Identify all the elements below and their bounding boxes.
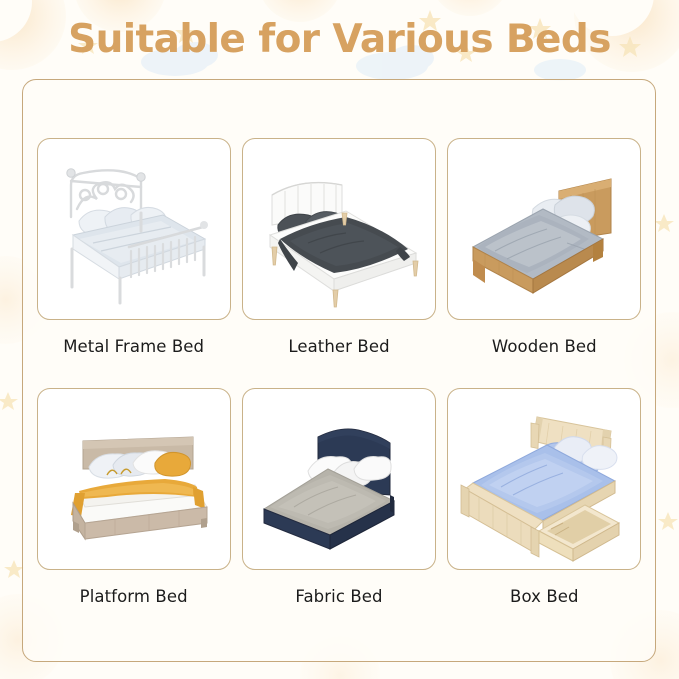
fabric-bed-icon: [250, 397, 428, 562]
platform-bed-icon: [45, 397, 223, 562]
bed-card-leather[interactable]: Leather Bed: [239, 138, 438, 388]
bed-label: Metal Frame Bed: [63, 337, 204, 356]
bed-image-container[interactable]: [447, 138, 641, 320]
bed-card-fabric[interactable]: Fabric Bed: [239, 388, 438, 638]
bed-card-metal-frame[interactable]: Metal Frame Bed: [34, 138, 233, 388]
bed-type-grid: Metal Frame Bed: [22, 79, 656, 662]
bed-label: Wooden Bed: [492, 337, 597, 356]
bed-image-container[interactable]: [37, 138, 231, 320]
wooden-bed-icon: [455, 147, 633, 312]
bed-label: Box Bed: [510, 587, 579, 606]
bed-label: Platform Bed: [80, 587, 188, 606]
bed-label: Leather Bed: [288, 337, 389, 356]
leather-bed-icon: [250, 147, 428, 312]
bed-image-container[interactable]: [242, 388, 436, 570]
box-bed-icon: [451, 397, 637, 562]
bed-label: Fabric Bed: [295, 587, 382, 606]
bed-card-platform[interactable]: Platform Bed: [34, 388, 233, 638]
bed-image-container[interactable]: [242, 138, 436, 320]
page-title: Suitable for Various Beds: [0, 17, 679, 62]
bed-card-wooden[interactable]: Wooden Bed: [445, 138, 644, 388]
bed-image-container[interactable]: [37, 388, 231, 570]
bed-card-box[interactable]: Box Bed: [445, 388, 644, 638]
metal-frame-bed-icon: [45, 147, 223, 312]
bed-image-container[interactable]: [447, 388, 641, 570]
